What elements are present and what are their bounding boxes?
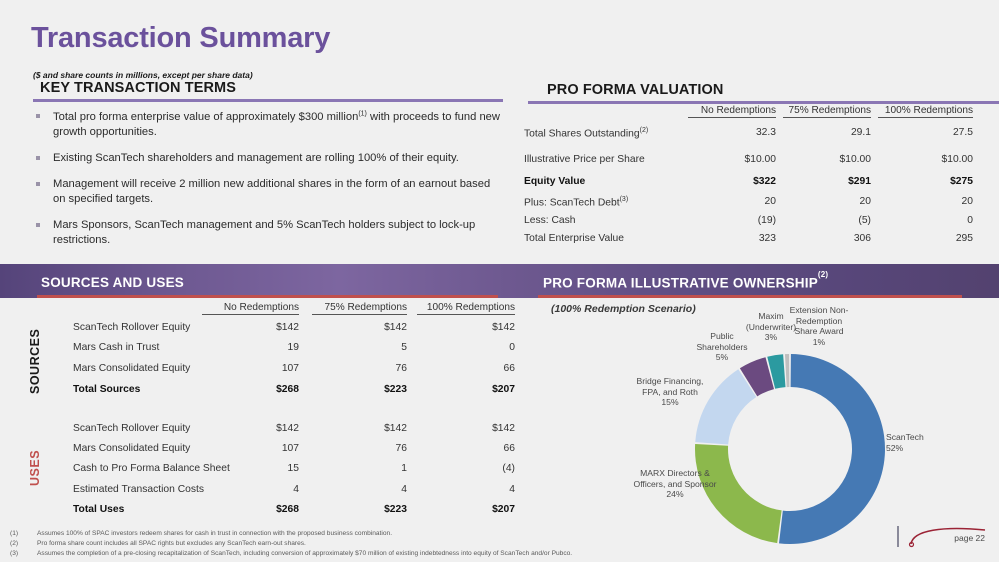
table-cell: $10.00 — [878, 154, 973, 165]
su-col-header-2: 100% Redemptions — [417, 302, 515, 315]
footnote-text: Pro forma share count includes all SPAC … — [37, 539, 306, 549]
pie-label-value: 5% — [686, 352, 758, 363]
table-cell: $268 — [202, 384, 299, 395]
pie-label-marx: MARX Directors & Officers, and Sponsor 2… — [615, 468, 735, 500]
table-cell: 32.3 — [688, 127, 776, 138]
page-marker: page 22 — [897, 524, 989, 550]
pie-slice-0 — [779, 354, 885, 544]
table-row-label: Total Uses — [73, 504, 124, 515]
table-row-label: Mars Consolidated Equity — [73, 363, 190, 374]
key-terms-bullet-list: Total pro forma enterprise value of appr… — [32, 109, 502, 259]
bullet-text: Total pro forma enterprise value of appr… — [53, 111, 500, 138]
bullet-square-icon — [36, 182, 40, 186]
sources-uses-rule — [37, 295, 498, 298]
table-row-label: Total Enterprise Value — [524, 233, 624, 244]
table-cell: $10.00 — [783, 154, 871, 165]
sources-uses-heading: SOURCES AND USES — [41, 275, 184, 290]
list-item: Total pro forma enterprise value of appr… — [32, 109, 502, 139]
su-col-header-1: 75% Redemptions — [312, 302, 407, 315]
page-number: page 22 — [954, 533, 985, 543]
table-cell: 20 — [783, 196, 871, 207]
pie-label-line: ScanTech — [886, 432, 976, 443]
pie-label-line: Officers, and Sponsor — [615, 479, 735, 490]
bullet-square-icon — [36, 114, 40, 118]
table-cell: $142 — [202, 322, 299, 333]
table-cell: $142 — [417, 423, 515, 434]
table-cell: $223 — [312, 504, 407, 515]
table-cell: $223 — [312, 384, 407, 395]
table-cell: $291 — [783, 176, 871, 187]
table-cell: 66 — [417, 363, 515, 374]
table-cell: $142 — [417, 322, 515, 333]
table-cell: 306 — [783, 233, 871, 244]
table-row-label: Estimated Transaction Costs — [73, 484, 204, 495]
bullet-text: Management will receive 2 million new ad… — [53, 178, 490, 205]
key-terms-heading: KEY TRANSACTION TERMS — [40, 80, 236, 96]
pie-label-line: Bridge Financing, — [617, 376, 723, 387]
table-cell: $142 — [202, 423, 299, 434]
footnote-marker: (3) — [10, 549, 18, 559]
table-row-label: Total Shares Outstanding(2) — [524, 127, 648, 139]
table-cell: $10.00 — [688, 154, 776, 165]
footnote-marker: (2) — [10, 539, 18, 549]
table-cell: 19 — [202, 342, 299, 353]
table-cell: 5 — [312, 342, 407, 353]
footnote-marker: (1) — [10, 529, 18, 539]
table-cell: 76 — [312, 443, 407, 454]
table-cell: 295 — [878, 233, 973, 244]
table-cell: $142 — [312, 423, 407, 434]
pie-slice-5 — [785, 354, 789, 387]
bullet-square-icon — [36, 156, 40, 160]
table-row-label: Plus: ScanTech Debt(3) — [524, 196, 628, 208]
table-cell: 66 — [417, 443, 515, 454]
table-cell: (4) — [417, 463, 515, 474]
key-terms-rule — [33, 99, 503, 102]
list-item: Management will receive 2 million new ad… — [32, 177, 502, 207]
table-cell: $268 — [202, 504, 299, 515]
footnote-text: Assumes the completion of a pre-closing … — [37, 549, 572, 559]
valuation-col-header-2: 100% Redemptions — [878, 105, 973, 118]
table-cell: $322 — [688, 176, 776, 187]
pie-label-line: Shareholders — [686, 342, 758, 353]
table-row-label: ScanTech Rollover Equity — [73, 423, 190, 434]
pie-label-bridge: Bridge Financing, FPA, and Roth 15% — [617, 376, 723, 408]
footnote-text: Assumes 100% of SPAC investors redeem sh… — [37, 529, 392, 539]
table-cell: 29.1 — [783, 127, 871, 138]
list-item: Mars Sponsors, ScanTech management and 5… — [32, 218, 502, 248]
table-row-label: ScanTech Rollover Equity — [73, 322, 190, 333]
ownership-scenario: (100% Redemption Scenario) — [551, 303, 696, 315]
slide-root: Transaction Summary ($ and share counts … — [0, 0, 999, 562]
table-cell: 27.5 — [878, 127, 973, 138]
bullet-text: Existing ScanTech shareholders and manag… — [53, 152, 459, 164]
table-cell: 107 — [202, 443, 299, 454]
table-cell: $207 — [417, 384, 515, 395]
table-cell: $207 — [417, 504, 515, 515]
table-cell: (5) — [783, 215, 871, 226]
table-cell: 4 — [202, 484, 299, 495]
valuation-rule — [528, 101, 999, 104]
table-cell: 4 — [312, 484, 407, 495]
pie-label-line: Redemption — [784, 316, 854, 327]
bullet-text: Mars Sponsors, ScanTech management and 5… — [53, 219, 475, 246]
valuation-col-header-1: 75% Redemptions — [783, 105, 871, 118]
table-row-label: Illustrative Price per Share — [524, 154, 645, 165]
table-row-label: Mars Cash in Trust — [73, 342, 159, 353]
pie-label-value: 15% — [617, 397, 723, 408]
su-col-header-0: No Redemptions — [202, 302, 299, 315]
bullet-square-icon — [36, 223, 40, 227]
pie-label-line: Share Award — [784, 326, 854, 337]
table-cell: 20 — [878, 196, 973, 207]
pie-label-value: 1% — [784, 337, 854, 348]
uses-side-label: USES — [28, 440, 42, 496]
valuation-col-header-0: No Redemptions — [688, 105, 776, 118]
table-cell: (19) — [688, 215, 776, 226]
ownership-rule — [538, 295, 962, 298]
ownership-heading: PRO FORMA ILLUSTRATIVE OWNERSHIP(2) — [543, 275, 828, 291]
pie-label-extension: Extension Non- Redemption Share Award 1% — [784, 305, 854, 348]
table-row-label: Mars Consolidated Equity — [73, 443, 190, 454]
table-cell: 20 — [688, 196, 776, 207]
key-terms-note: ($ and share counts in millions, except … — [33, 70, 253, 80]
valuation-heading: PRO FORMA VALUATION — [547, 82, 723, 98]
pie-label-line: Extension Non- — [784, 305, 854, 316]
pie-label-scantech: ScanTech 52% — [886, 432, 976, 453]
pie-label-value: 52% — [886, 443, 976, 454]
table-cell: $142 — [312, 322, 407, 333]
page-title: Transaction Summary — [31, 22, 330, 55]
pie-label-line: FPA, and Roth — [617, 387, 723, 398]
pie-slice-4 — [767, 354, 785, 389]
sources-side-label: SOURCES — [28, 323, 42, 399]
table-row-label: Less: Cash — [524, 215, 576, 226]
table-row-label: Total Sources — [73, 384, 140, 395]
table-cell: $275 — [878, 176, 973, 187]
table-cell: 4 — [417, 484, 515, 495]
list-item: Existing ScanTech shareholders and manag… — [32, 151, 502, 166]
table-cell: 1 — [312, 463, 407, 474]
table-cell: 107 — [202, 363, 299, 374]
pie-label-value: 24% — [615, 489, 735, 500]
table-row-label: Equity Value — [524, 176, 585, 187]
table-cell: 0 — [878, 215, 973, 226]
table-cell: 76 — [312, 363, 407, 374]
table-cell: 323 — [688, 233, 776, 244]
table-cell: 0 — [417, 342, 515, 353]
table-cell: 15 — [202, 463, 299, 474]
pie-label-line: MARX Directors & — [615, 468, 735, 479]
